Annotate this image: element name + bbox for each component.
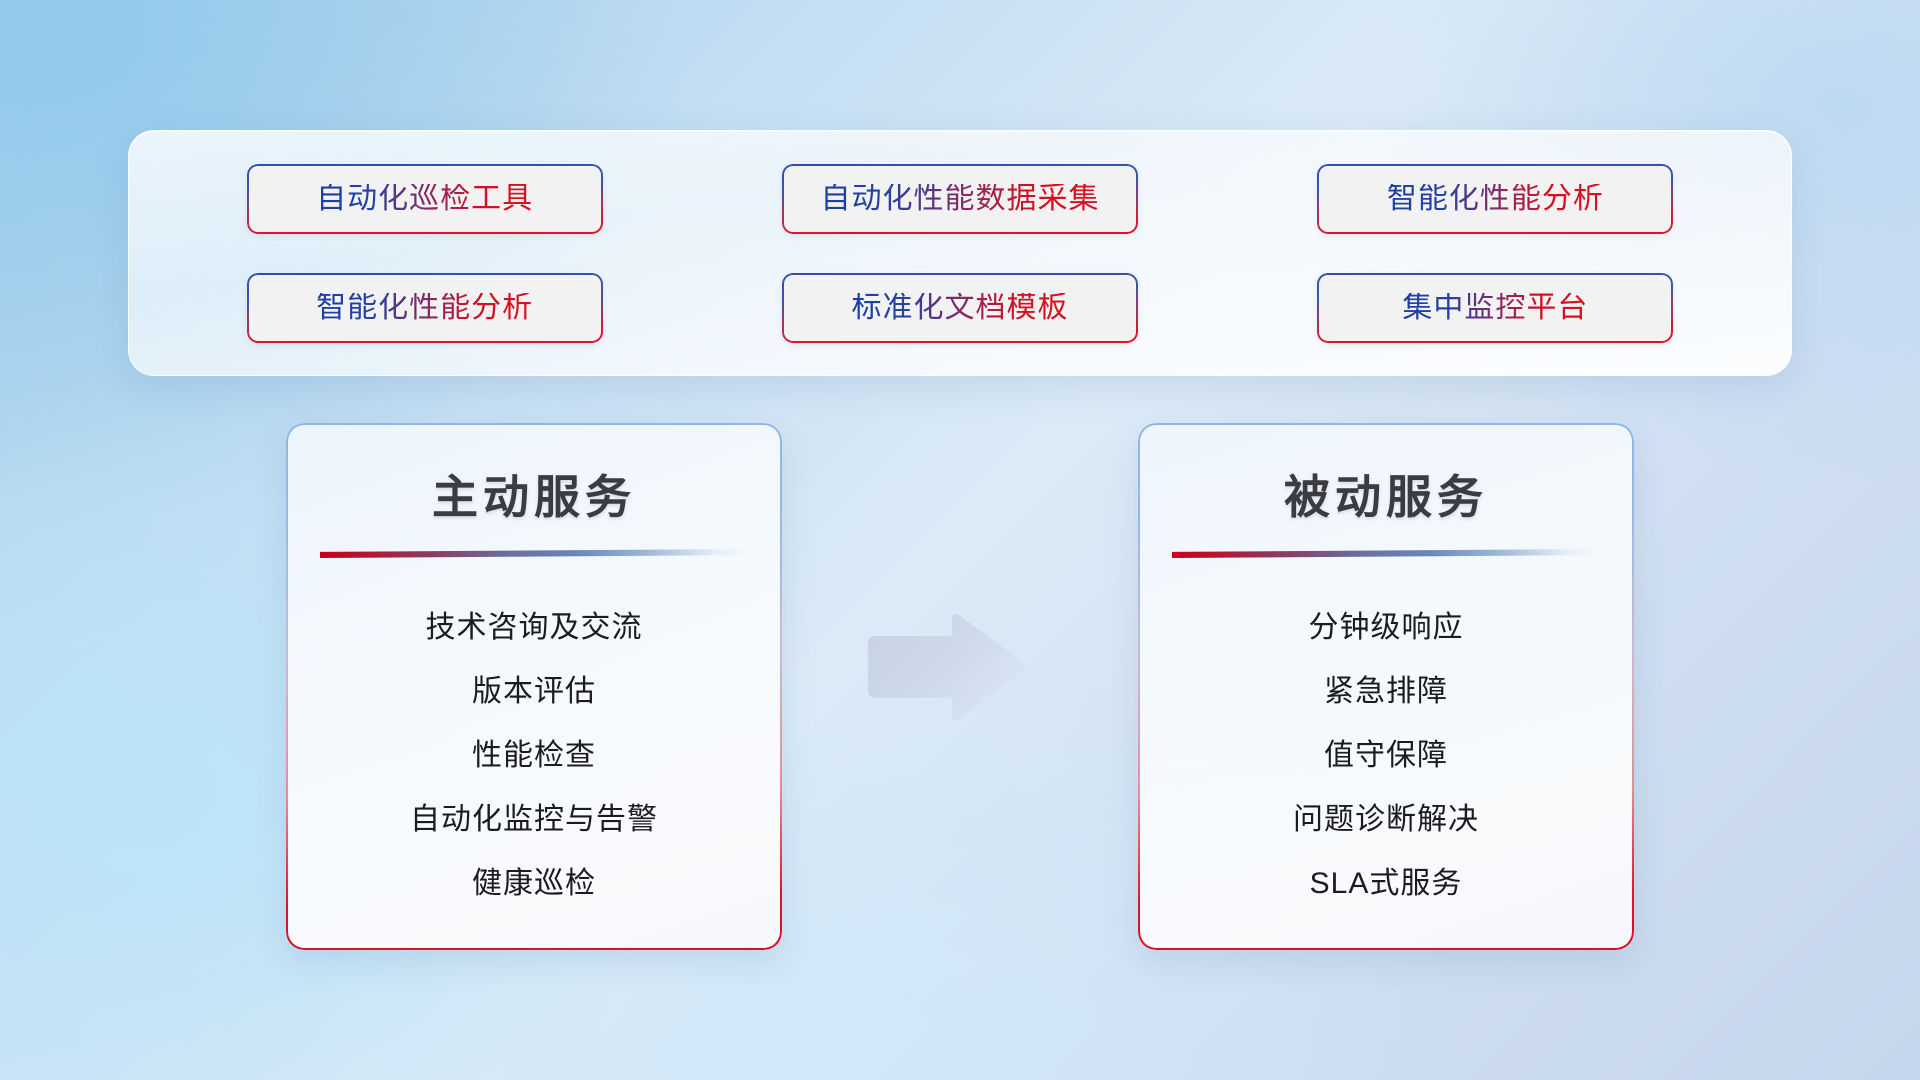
list-item: 分钟级响应 [1138,596,1634,660]
active-service-title: 主动服务 [286,461,782,527]
capability-pill[interactable]: 集中监控平台 [1317,273,1673,343]
capability-pill[interactable]: 自动化巡检工具 [247,164,603,234]
capability-pill-label: 智能化性能分析 [1387,184,1604,214]
capability-pill-label: 自动化巡检工具 [316,184,533,214]
title-underline-rule [1172,549,1600,558]
list-item: 问题诊断解决 [1138,788,1634,852]
capability-panel: 自动化巡检工具 自动化性能数据采集 智能化性能分析 智能化性能分析 标准化文档模… [128,130,1792,376]
passive-service-card: 被动服务 分钟级响应 紧急排障 值守保障 问题诊断解决 SLA式服务 [1138,423,1634,950]
capability-pill[interactable]: 标准化文档模板 [782,273,1138,343]
list-item: 值守保障 [1138,724,1634,788]
list-item: 自动化监控与告警 [286,788,782,852]
list-item: 版本评估 [286,660,782,724]
arrow-right-icon [866,614,1026,722]
capability-pill-label: 集中监控平台 [1402,293,1588,323]
active-service-card: 主动服务 技术咨询及交流 版本评估 性能检查 自动化监控与告警 健康巡检 [286,423,782,950]
passive-service-list: 分钟级响应 紧急排障 值守保障 问题诊断解决 SLA式服务 [1138,596,1634,916]
capability-pill-label: 自动化性能数据采集 [820,184,1099,214]
list-item: 性能检查 [286,724,782,788]
capability-pill[interactable]: 智能化性能分析 [247,273,603,343]
title-underline-rule [320,549,748,558]
capability-pill[interactable]: 自动化性能数据采集 [782,164,1138,234]
slide-canvas: 自动化巡检工具 自动化性能数据采集 智能化性能分析 智能化性能分析 标准化文档模… [0,0,1920,1080]
active-service-list: 技术咨询及交流 版本评估 性能检查 自动化监控与告警 健康巡检 [286,596,782,916]
list-item: SLA式服务 [1138,852,1634,916]
list-item: 技术咨询及交流 [286,596,782,660]
capability-pill-label: 标准化文档模板 [851,293,1068,323]
list-item: 紧急排障 [1138,660,1634,724]
passive-service-title: 被动服务 [1138,461,1634,527]
capability-pill-label: 智能化性能分析 [316,293,533,323]
list-item: 健康巡检 [286,852,782,916]
capability-pill[interactable]: 智能化性能分析 [1317,164,1673,234]
